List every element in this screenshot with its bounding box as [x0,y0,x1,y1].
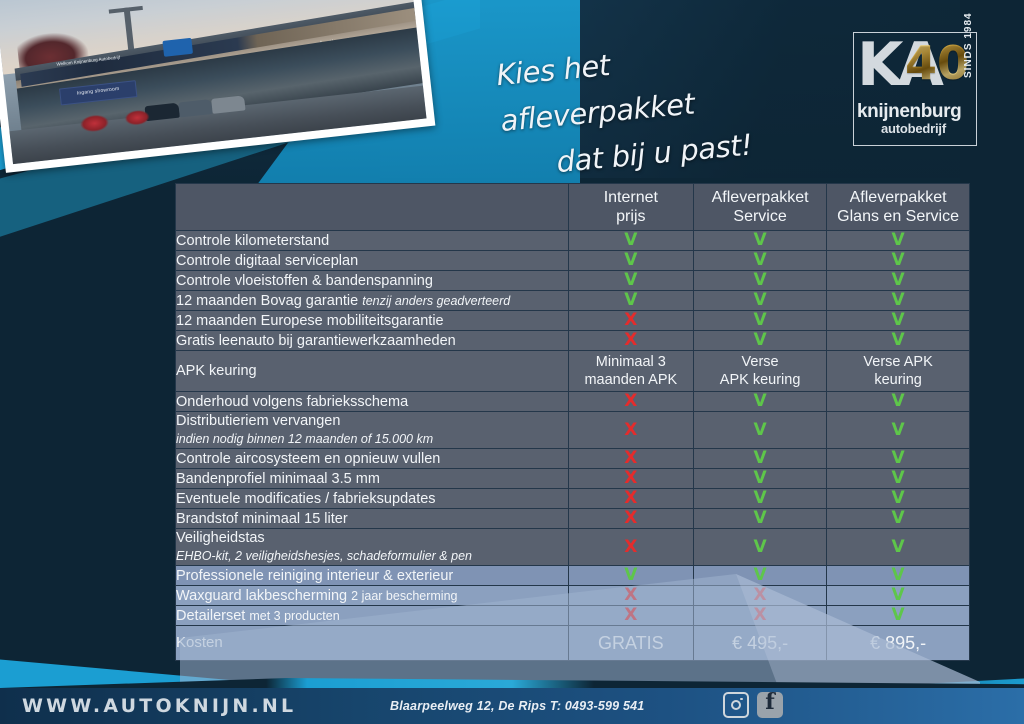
table-row: Distributieriem vervangenindien nodig bi… [176,412,970,449]
check-mark-icon: V [892,310,905,330]
value-cell: V [827,509,970,529]
table-row: VeiligheidstasEHBO-kit, 2 veiligheidshes… [176,529,970,566]
feature-cell: Professionele reiniging interieur & exte… [176,566,569,586]
cross-mark-icon: X [624,448,637,468]
table-row: Waxguard lakbescherming 2 jaar beschermi… [176,586,970,606]
feature-note: tenzij anders geadverteerd [362,294,510,308]
feature-label: Controle kilometerstand [176,233,329,249]
company-logo: KA 40 knijnenburg autobedrijf SINDS 1984 [845,26,995,154]
check-mark-icon: V [754,230,767,250]
value-cell: V [568,271,693,291]
value-cell: V [827,251,970,271]
feature-label: Professionele reiniging interieur & exte… [176,568,453,584]
feature-cell: Controle aircosysteem en opnieuw vullen [176,449,569,469]
footer-bar: WWW.AUTOKNIJN.NL Blaarpeelweg 12, De Rip… [0,688,1024,724]
feature-cell: Controle digitaal serviceplan [176,251,569,271]
cross-mark-icon: X [624,537,637,557]
value-cell: X [568,331,693,351]
value-cell: V [827,331,970,351]
column-header-3: AfleverpakketGlans en Service [827,184,970,231]
check-mark-icon: V [892,537,905,557]
value-cell: V [694,489,827,509]
check-mark-icon: V [754,310,767,330]
value-cell: V [694,251,827,271]
value-cell: X [568,489,693,509]
feature-cell: Controle kilometerstand [176,231,569,251]
check-mark-icon: V [754,537,767,557]
column-header-line2: prijs [616,208,645,225]
cross-mark-icon: X [624,310,637,330]
value-cell: V [568,231,693,251]
check-mark-icon: V [892,270,905,290]
check-mark-icon: V [892,330,905,350]
check-mark-icon: V [892,391,905,411]
feature-cell: Eventuele modificaties / fabrieksupdates [176,489,569,509]
check-mark-icon: V [754,290,767,310]
feature-label: Controle digitaal serviceplan [176,253,358,269]
table-row: Bandenprofiel minimaal 3.5 mmXVV [176,469,970,489]
address-and-phone: Blaarpeelweg 12, De Rips T: 0493-599 541 [390,699,644,713]
feature-note: 2 jaar bescherming [351,589,457,603]
check-mark-icon: V [754,420,767,440]
check-mark-icon: V [624,250,637,270]
table-row: Controle kilometerstandVVV [176,231,970,251]
table-row: Eventuele modificaties / fabrieksupdates… [176,489,970,509]
cross-mark-icon: X [624,330,637,350]
cross-mark-icon: X [754,605,767,625]
feature-label: Bandenprofiel minimaal 3.5 mm [176,471,380,487]
value-cell: V [827,469,970,489]
value-cell: X [568,606,693,626]
table-row: Professionele reiniging interieur & exte… [176,566,970,586]
logo-company-name: knijnenburg [857,102,975,122]
value-cell: V [827,392,970,412]
tagline: Kies het afleverpakket dat bij u past! [494,24,815,190]
social-links [723,692,783,718]
feature-cell: Distributieriem vervangenindien nodig bi… [176,412,569,449]
value-cell: V [568,291,693,311]
table-row: Onderhoud volgens fabrieksschemaXVV [176,392,970,412]
value-cell: V [827,489,970,509]
logo-anniversary-40: 40 [905,40,969,86]
value-cell: V [568,251,693,271]
feature-label: Gratis leenauto bij garantiewerkzaamhede… [176,333,456,349]
feature-label: Onderhoud volgens fabrieksschema [176,394,408,410]
check-mark-icon: V [892,420,905,440]
feature-label: 12 maanden Europese mobiliteitsgarantie [176,313,444,329]
feature-label: Waxguard lakbescherming [176,588,347,604]
feature-label: 12 maanden Bovag garantie [176,293,358,309]
value-cell: V [694,231,827,251]
check-mark-icon: V [624,230,637,250]
value-cell: V [827,231,970,251]
logo-since-text: SINDS 1984 [963,12,974,78]
value-cell: V [694,509,827,529]
cost-row: KostenGRATIS€ 495,-€ 895,- [176,626,970,661]
value-cell: V [827,566,970,586]
value-cell: V [827,449,970,469]
value-cell: X [568,449,693,469]
cross-mark-icon: X [624,508,637,528]
column-header-line1: Afleverpakket [850,189,947,206]
photo-flowers [79,114,110,134]
table-row: 12 maanden Bovag garantie tenzij anders … [176,291,970,311]
column-header-line1: Internet [604,189,658,206]
feature-label: APK keuring [176,363,257,379]
cost-value: GRATIS [568,626,693,661]
table-row: Controle aircosysteem en opnieuw vullenX… [176,449,970,469]
check-mark-icon: V [892,468,905,488]
logo-company-subtitle: autobedrijf [881,122,977,136]
value-cell: V [694,392,827,412]
feature-cell: Gratis leenauto bij garantiewerkzaamhede… [176,331,569,351]
value-cell: V [694,271,827,291]
feature-cell: Controle vloeistoffen & bandenspanning [176,271,569,291]
feature-cell: Brandstof minimaal 15 liter [176,509,569,529]
check-mark-icon: V [754,565,767,585]
check-mark-icon: V [624,565,637,585]
check-mark-icon: V [754,488,767,508]
feature-note: EHBO-kit, 2 veiligheidshesjes, schadefor… [176,547,568,565]
value-cell: V [694,311,827,331]
cross-mark-icon: X [624,468,637,488]
feature-note: met 3 producten [249,609,339,623]
value-cell: V [694,412,827,449]
table-row: Controle vloeistoffen & bandenspanningVV… [176,271,970,291]
feature-cell: Waxguard lakbescherming 2 jaar beschermi… [176,586,569,606]
value-cell: X [568,412,693,449]
feature-label: Eventuele modificaties / fabrieksupdates [176,491,436,507]
value-cell: V [827,606,970,626]
check-mark-icon: V [754,448,767,468]
check-mark-icon: V [892,605,905,625]
value-cell: V [827,586,970,606]
value-cell: X [568,529,693,566]
feature-cell: APK keuring [176,351,569,392]
column-header-line2: Service [733,208,786,225]
value-cell: V [694,469,827,489]
facebook-icon[interactable] [757,692,783,718]
cross-mark-icon: X [624,391,637,411]
table-row: 12 maanden Europese mobiliteitsgarantieX… [176,311,970,331]
feature-label: Distributieriem vervangen [176,412,568,430]
table-row: Controle digitaal serviceplanVVV [176,251,970,271]
website-url[interactable]: WWW.AUTOKNIJN.NL [22,695,296,717]
cost-value: € 895,- [827,626,970,661]
feature-label: Controle vloeistoffen & bandenspanning [176,273,433,289]
value-cell: Minimaal 3maanden APK [568,351,693,392]
check-mark-icon: V [892,488,905,508]
check-mark-icon: V [754,391,767,411]
table-row: Brandstof minimaal 15 literXVV [176,509,970,529]
check-mark-icon: V [754,250,767,270]
feature-cell: 12 maanden Europese mobiliteitsgarantie [176,311,569,331]
cross-mark-icon: X [754,585,767,605]
value-cell: V [694,291,827,311]
feature-label: Veiligheidstas [176,529,568,547]
check-mark-icon: V [624,270,637,290]
value-cell: X [568,392,693,412]
check-mark-icon: V [754,508,767,528]
table-header-row: InternetprijsAfleverpakketServiceAflever… [176,184,970,231]
value-cell: V [568,566,693,586]
value-cell: V [694,529,827,566]
value-cell: X [694,606,827,626]
check-mark-icon: V [624,290,637,310]
cost-value: € 495,- [694,626,827,661]
photo-flowers [124,109,150,127]
table-row: APK keuringMinimaal 3maanden APKVerseAPK… [176,351,970,392]
poster-canvas: Welkom Knijnenburg Autobedrijf knijnenbu… [0,0,1024,724]
value-cell: X [568,311,693,331]
feature-label: Controle aircosysteem en opnieuw vullen [176,451,440,467]
feature-label: Brandstof minimaal 15 liter [176,511,348,527]
cost-label: Kosten [176,626,569,661]
value-cell: Verse APKkeuring [827,351,970,392]
value-cell: VerseAPK keuring [694,351,827,392]
value-text: Verse APKkeuring [863,354,932,388]
feature-cell: Detailerset met 3 producten [176,606,569,626]
check-mark-icon: V [892,250,905,270]
feature-note: indien nodig binnen 12 maanden of 15.000… [176,430,568,448]
cross-mark-icon: X [624,585,637,605]
header-feature-column [176,184,569,231]
value-cell: V [694,566,827,586]
check-mark-icon: V [892,585,905,605]
column-header-2: AfleverpakketService [694,184,827,231]
check-mark-icon: V [892,230,905,250]
table-body: InternetprijsAfleverpakketServiceAflever… [176,184,970,661]
feature-label: Detailerset [176,608,245,624]
feature-cell: Bandenprofiel minimaal 3.5 mm [176,469,569,489]
value-cell: V [827,291,970,311]
feature-cell: 12 maanden Bovag garantie tenzij anders … [176,291,569,311]
value-cell: X [568,469,693,489]
cross-mark-icon: X [624,420,637,440]
feature-cell: Onderhoud volgens fabrieksschema [176,392,569,412]
table-row: Gratis leenauto bij garantiewerkzaamhede… [176,331,970,351]
check-mark-icon: V [754,270,767,290]
value-text: Minimaal 3maanden APK [584,354,677,388]
cross-mark-icon: X [624,605,637,625]
check-mark-icon: V [892,565,905,585]
value-cell: V [694,331,827,351]
tagline-line-1: Kies het afleverpakket [495,48,696,138]
check-mark-icon: V [892,290,905,310]
check-mark-icon: V [754,468,767,488]
value-cell: V [694,449,827,469]
table-row: Detailerset met 3 productenXXV [176,606,970,626]
package-comparison-table: InternetprijsAfleverpakketServiceAflever… [175,183,970,661]
cross-mark-icon: X [624,488,637,508]
instagram-icon[interactable] [723,692,749,718]
feature-cell: VeiligheidstasEHBO-kit, 2 veiligheidshes… [176,529,569,566]
column-header-1: Internetprijs [568,184,693,231]
column-header-line2: Glans en Service [837,208,959,225]
value-cell: X [568,509,693,529]
value-cell: X [694,586,827,606]
value-text: VerseAPK keuring [720,354,801,388]
value-cell: V [827,271,970,291]
value-cell: V [827,412,970,449]
check-mark-icon: V [754,330,767,350]
value-cell: V [827,311,970,331]
check-mark-icon: V [892,448,905,468]
check-mark-icon: V [892,508,905,528]
value-cell: X [568,586,693,606]
column-header-line1: Afleverpakket [712,189,809,206]
value-cell: V [827,529,970,566]
